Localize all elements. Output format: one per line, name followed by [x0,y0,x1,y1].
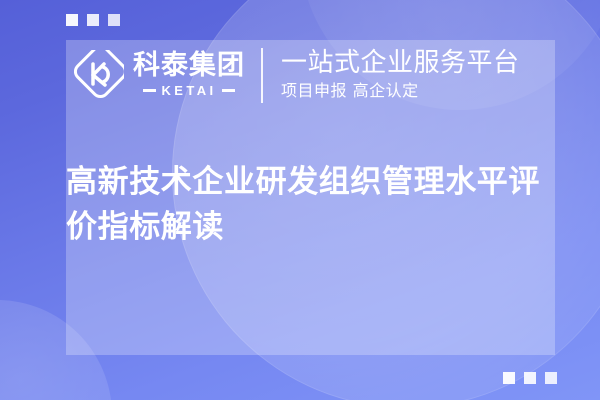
promo-banner: 科泰集团 KETAI 一站式企业服务平台 项目申报 高企认定 高新技术企业研发组… [0,0,600,400]
brand-rule-left-icon [143,89,156,92]
brand-name-cn: 科泰集团 [133,52,245,80]
brand-name-en: KETAI [161,83,216,98]
slogan-primary: 一站式企业服务平台 [281,49,520,78]
brand-rule-right-icon [222,89,235,92]
decor-square-icon [545,372,557,384]
ketai-diamond-kd-logo-icon [74,50,124,100]
decor-square-icon [108,14,120,26]
slogan-block: 一站式企业服务平台 项目申报 高企认定 [281,49,520,102]
brand-divider [261,48,263,103]
brand-wordmark: 科泰集团 KETAI [133,52,245,97]
decor-squares-top-left [66,14,120,26]
decor-square-icon [524,372,536,384]
slogan-secondary: 项目申报 高企认定 [281,81,520,102]
decor-square-icon [503,372,515,384]
brand-name-en-row: KETAI [143,83,234,98]
page-title: 高新技术企业研发组织管理水平评价指标解读 [66,160,566,251]
brand-header: 科泰集团 KETAI 一站式企业服务平台 项目申报 高企认定 [66,44,520,106]
decor-square-icon [66,14,78,26]
decor-squares-bottom-right [503,372,557,384]
decor-square-icon [87,14,99,26]
